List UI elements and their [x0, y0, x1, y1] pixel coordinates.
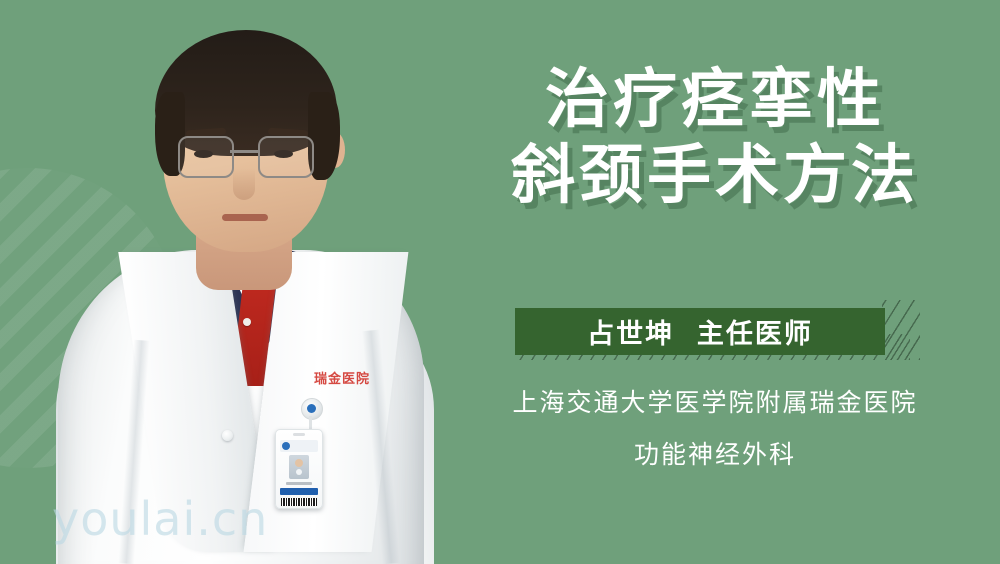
- polo-button: [243, 318, 251, 326]
- hospital-chest-logo: 瑞金医院: [314, 368, 370, 387]
- thumbnail-canvas: 瑞金医院 youlai.cn 治疗痉挛性 斜颈手术方法 占世坤 主任医师 上海交…: [0, 0, 1000, 564]
- badge-blue-bar: [280, 488, 318, 495]
- title-line-2: 斜颈手术方法: [430, 138, 1000, 214]
- doctor-name-banner: 占世坤 主任医师: [515, 308, 885, 355]
- badge-slot: [293, 433, 305, 436]
- eyeglasses-left-lens: [178, 136, 234, 178]
- badge-photo: [289, 455, 309, 479]
- badge-reel-clip: [301, 398, 323, 420]
- doctor-portrait: 瑞金医院: [0, 0, 460, 564]
- mouth: [222, 214, 268, 221]
- title-line-1: 治疗痉挛性: [430, 62, 1000, 138]
- department-name: 功能神经外科: [430, 435, 1000, 471]
- doctor-name-and-rank: 占世坤 主任医师: [587, 312, 813, 351]
- hospital-name: 上海交通大学医学院附属瑞金医院: [430, 383, 1000, 419]
- badge-name-line: [286, 482, 312, 485]
- coat-button: [222, 430, 233, 441]
- id-badge: [275, 429, 323, 509]
- page-title: 治疗痉挛性 斜颈手术方法: [430, 62, 1000, 214]
- eyeglasses-right-lens: [258, 136, 314, 178]
- badge-header: [280, 440, 318, 452]
- eyeglasses-bridge: [230, 150, 258, 153]
- text-column: 治疗痉挛性 斜颈手术方法 占世坤 主任医师 上海交通大学医学院附属瑞金医院 功能…: [430, 0, 1000, 564]
- nose: [233, 168, 255, 200]
- badge-barcode: [281, 498, 317, 506]
